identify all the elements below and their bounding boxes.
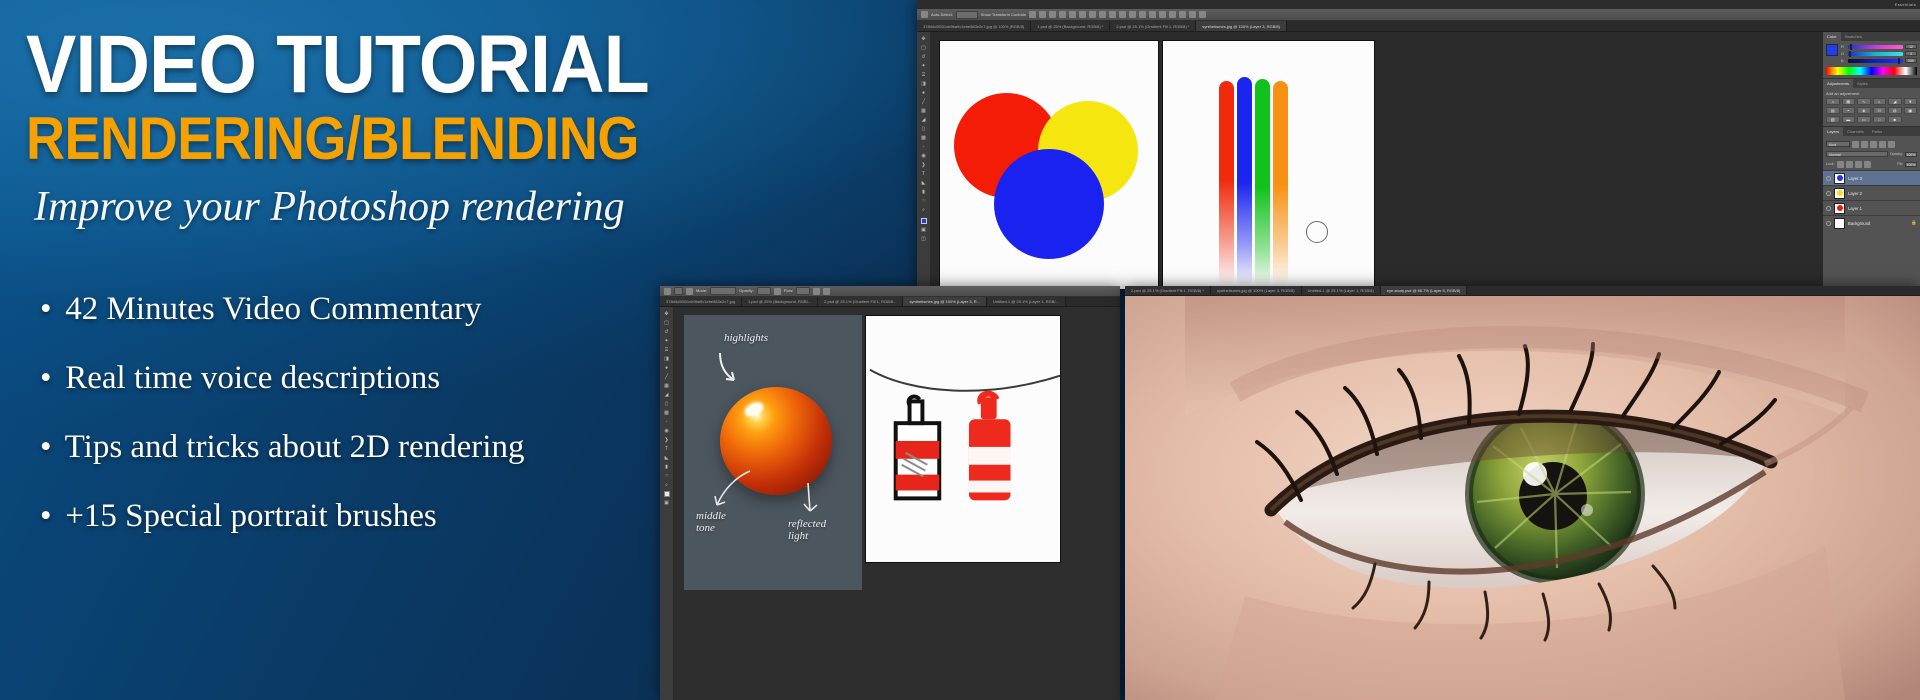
- flow-label: Flow:: [784, 289, 794, 293]
- layer-filter-row[interactable]: Kind: [1826, 140, 1917, 148]
- layer-thumbnail[interactable]: [1834, 188, 1845, 199]
- tagline: Improve your Photoshop rendering: [34, 183, 900, 231]
- tab-color[interactable]: Color: [1823, 32, 1841, 41]
- eyedropper-tool-icon[interactable]: ◨: [662, 355, 671, 363]
- spot-healing-tool-icon[interactable]: ●: [662, 364, 671, 372]
- selective-color-icon[interactable]: ▭: [1857, 116, 1871, 123]
- channel-value-r[interactable]: 12: [1905, 44, 1917, 49]
- page-subtitle: RENDERING/BLENDING: [26, 108, 813, 169]
- document-tab[interactable]: 2.psd @ 25.1% (Gradient Fill 1, RGB/8) *: [1110, 21, 1196, 32]
- tab-paths[interactable]: Paths: [1868, 127, 1886, 136]
- distribute-right-icon[interactable]: [1139, 11, 1146, 18]
- photoshop-window-sphere[interactable]: Mode: Normal Opacity: 100% Flow: 100% 37…: [660, 286, 1120, 700]
- layer-thumbnail[interactable]: [1834, 173, 1845, 184]
- bullet-marker: •: [40, 431, 57, 464]
- tab-styles[interactable]: Styles: [1853, 79, 1872, 88]
- distribute-middle-icon[interactable]: [1099, 11, 1106, 18]
- page-title: VIDEO TUTORIAL: [26, 26, 830, 104]
- blend-mode-select[interactable]: Normal: [1826, 151, 1888, 157]
- hue-saturation-icon[interactable]: ▼: [1904, 98, 1918, 105]
- lasso-tool-icon[interactable]: ↺: [662, 328, 671, 336]
- gradient-tool-icon[interactable]: ▩: [919, 134, 928, 142]
- zoom-tool-icon[interactable]: ⌕: [919, 206, 928, 214]
- type-tool-icon[interactable]: T: [919, 170, 928, 178]
- quick-mask-icon[interactable]: ▣: [919, 226, 928, 234]
- shape-tool-icon[interactable]: ▮: [919, 188, 928, 196]
- spray-can-sketch: [866, 316, 1060, 562]
- document-tab[interactable]: Untitled-1 @ 25.1% (Layer 1, RGB/...: [987, 297, 1066, 307]
- align-right-icon[interactable]: [1049, 11, 1056, 18]
- path-select-tool-icon[interactable]: ◣: [919, 179, 928, 187]
- layer-row-background[interactable]: Background 🔒: [1823, 215, 1920, 230]
- channel-label-g: G: [1841, 51, 1846, 56]
- eye-icon[interactable]: [1826, 176, 1831, 181]
- pen-tool-icon[interactable]: ❯: [919, 161, 928, 169]
- layer-thumbnail[interactable]: [1834, 218, 1845, 229]
- 3d-mode-rotate-icon[interactable]: [1159, 11, 1166, 18]
- list-item-label: Tips and tricks about 2D rendering: [65, 429, 525, 465]
- document-canvas-spraycan-sketch[interactable]: [865, 315, 1061, 563]
- quick-select-tool-icon[interactable]: ✦: [919, 62, 928, 70]
- tablet-pressure-size-icon[interactable]: [813, 288, 820, 295]
- highlights-arrow-icon: [714, 349, 754, 389]
- document-tab[interactable]: 1.psd @ 25% (Background, RGB/...: [742, 297, 818, 307]
- eye-icon[interactable]: [1826, 221, 1831, 226]
- lock-image-pixels-icon[interactable]: [1846, 161, 1853, 168]
- mode-label: Mode:: [696, 289, 707, 293]
- blue-circle[interactable]: [994, 149, 1104, 259]
- photoshop-window-circles[interactable]: Essentials Auto-Select: Group Show Trans…: [917, 0, 1920, 290]
- layer-name[interactable]: Layer 3: [1848, 176, 1917, 181]
- layer-name[interactable]: Layer 2: [1848, 191, 1917, 196]
- adjustments-panel[interactable]: Adjustments Styles Add an adjustment ◑ ▩…: [1823, 79, 1920, 127]
- lasso-tool-icon[interactable]: ↺: [919, 53, 928, 61]
- distribute-top-icon[interactable]: [1089, 11, 1096, 18]
- lock-row[interactable]: Lock: Fill: 100%: [1826, 160, 1917, 168]
- mode-select[interactable]: Normal: [710, 287, 736, 295]
- panels-dock[interactable]: Color Swatches R 12: [1822, 32, 1920, 290]
- shape-tool-icon[interactable]: ▮: [662, 463, 671, 471]
- 3d-mode-scale-icon[interactable]: [1199, 11, 1206, 18]
- layer-row-2[interactable]: Layer 2: [1823, 185, 1920, 200]
- foreground-color-swatch[interactable]: [919, 217, 928, 225]
- document-canvas-circles[interactable]: [939, 40, 1159, 290]
- layer-row-3[interactable]: Layer 3: [1823, 170, 1920, 185]
- crop-tool-icon[interactable]: ⍓: [919, 71, 928, 79]
- filter-shape-icon[interactable]: [1879, 141, 1886, 148]
- tools-panel[interactable]: ✥ ▢ ↺ ✦ ⍓ ◨ ● ╱ ▦ ◢ ▯ ▩ ◦ ◉ ❯ T ◣ ▮ ☜ ⌕: [917, 32, 931, 290]
- color-spectrum-ramp[interactable]: [1826, 67, 1917, 75]
- bullet-marker: •: [40, 500, 57, 533]
- tool-options-bar[interactable]: Mode: Normal Opacity: 100% Flow: 100%: [660, 286, 1120, 297]
- document-tab-bar[interactable]: 2.psd @ 25.1% (Gradient Fill 1, RGB/8) *…: [1125, 286, 1920, 296]
- auto-select-label: Auto-Select:: [931, 13, 953, 17]
- blur-tool-icon[interactable]: ◦: [662, 418, 671, 426]
- 3d-mode-roll-icon[interactable]: [1169, 11, 1176, 18]
- vibrance-icon[interactable]: ◢: [1888, 98, 1902, 105]
- adjustment-buttons[interactable]: ◑ ▩ ∿ ☼ ◢ ▼ ▤ ◓ ◈ ☷ ◍ ▣ ▧: [1826, 98, 1917, 123]
- adjustments-heading: Add an adjustment: [1826, 91, 1917, 96]
- channel-mixer-icon[interactable]: ☷: [1873, 107, 1887, 114]
- color-slider-row[interactable]: G 3: [1841, 51, 1917, 56]
- dodge-tool-icon[interactable]: ◉: [662, 427, 671, 435]
- levels-icon[interactable]: ▩: [1842, 98, 1856, 105]
- threshold-icon[interactable]: ▧: [1826, 116, 1840, 123]
- list-item-label: +15 Special portrait brushes: [65, 498, 436, 534]
- document-canvas-eye[interactable]: [1125, 296, 1920, 700]
- blue-stroke[interactable]: [1237, 77, 1252, 287]
- foreground-background-swatch[interactable]: [1826, 44, 1838, 56]
- move-tool-icon[interactable]: ✥: [662, 310, 671, 318]
- eye-icon[interactable]: [1826, 191, 1831, 196]
- 3d-mode-slide-icon[interactable]: [1189, 11, 1196, 18]
- layer-name[interactable]: Layer 1: [1848, 206, 1917, 211]
- distribute-center-icon[interactable]: [1129, 11, 1136, 18]
- red-stroke[interactable]: [1219, 81, 1234, 286]
- menu-bar[interactable]: Essentials: [917, 0, 1920, 9]
- workspace-switcher-label[interactable]: Essentials: [1895, 2, 1916, 7]
- opacity-value[interactable]: 100%: [1905, 152, 1917, 157]
- history-brush-tool-icon[interactable]: ◢: [919, 116, 928, 124]
- blue-ramp[interactable]: [1848, 59, 1903, 63]
- lock-label: Lock:: [1826, 162, 1835, 166]
- document-tab-bar[interactable]: 378d4c0f531cb9ba9c1ebe583e2c7.jpg @ 100%…: [917, 21, 1920, 32]
- layers-panel-tabs[interactable]: Layers Channels Paths: [1823, 127, 1920, 136]
- document-tab-active[interactable]: synthetismes.jpg @ 100% (Layer 3, R...: [903, 297, 987, 307]
- gradient-tool-icon[interactable]: ▩: [662, 409, 671, 417]
- color-panel-tabs[interactable]: Color Swatches: [1823, 32, 1920, 41]
- promo-banner: VIDEO TUTORIAL RENDERING/BLENDING Improv…: [0, 0, 1920, 700]
- document-tab[interactable]: 1.psd @ 25% (Background, RGB/8) *: [1031, 21, 1110, 32]
- 3d-mode-pan-icon[interactable]: [1179, 11, 1186, 18]
- brush-tool-icon[interactable]: ╱: [919, 98, 928, 106]
- more-adjustments-icon[interactable]: ■: [1888, 116, 1902, 123]
- blur-tool-icon[interactable]: ◦: [919, 143, 928, 151]
- brightness-contrast-icon[interactable]: ◑: [1826, 98, 1840, 105]
- bullet-marker: •: [40, 293, 57, 326]
- show-transform-controls-label: Show Transform Controls: [981, 13, 1026, 17]
- lock-transparent-pixels-icon[interactable]: [1837, 161, 1844, 168]
- canvas-area[interactable]: highlights middle tone reflected light: [674, 307, 1120, 700]
- zoom-tool-icon[interactable]: ⌕: [662, 481, 671, 489]
- adjustments-panel-tabs[interactable]: Adjustments Styles: [1823, 79, 1920, 88]
- quick-select-tool-icon[interactable]: ✦: [662, 337, 671, 345]
- distribute-left-icon[interactable]: [1119, 11, 1126, 18]
- orange-stroke[interactable]: [1273, 81, 1288, 286]
- layers-panel[interactable]: Layers Channels Paths Kind: [1823, 127, 1920, 290]
- document-tab[interactable]: 378d4c0f531cb9ba9c1ebe583e2c7.jpg: [660, 297, 742, 307]
- gradient-map-icon[interactable]: ▬: [1842, 116, 1856, 123]
- screen-mode-icon[interactable]: ◫: [919, 235, 928, 243]
- document-tab-active[interactable]: synthetismes.jpg @ 100% (Layer 3, RGB/8): [1196, 21, 1287, 32]
- green-stroke[interactable]: [1255, 79, 1270, 287]
- flow-field[interactable]: 100%: [796, 287, 810, 295]
- lock-position-icon[interactable]: [1855, 161, 1862, 168]
- color-slider-row[interactable]: B 239: [1841, 58, 1917, 63]
- channel-value-b[interactable]: 239: [1905, 58, 1917, 63]
- photoshop-window-eye[interactable]: 2.psd @ 25.1% (Gradient Fill 1, RGB/8) *…: [1125, 286, 1920, 700]
- rendered-sphere[interactable]: [720, 387, 832, 495]
- curves-icon[interactable]: ∿: [1857, 98, 1871, 105]
- eye-icon[interactable]: [1826, 206, 1831, 211]
- color-balance-icon[interactable]: ▤: [1826, 107, 1840, 114]
- layer-name[interactable]: Background: [1848, 221, 1908, 226]
- color-slider-row[interactable]: R 12: [1841, 44, 1917, 49]
- list-item-label: 42 Minutes Video Commentary: [65, 291, 481, 327]
- red-ramp[interactable]: [1848, 45, 1903, 49]
- filter-type-icon[interactable]: [1870, 141, 1877, 148]
- auto-select-dropdown[interactable]: Group: [956, 11, 978, 19]
- auto-align-icon[interactable]: [1149, 11, 1156, 18]
- pen-tool-icon[interactable]: ❯: [662, 436, 671, 444]
- document-canvas-strokes[interactable]: [1162, 40, 1375, 290]
- green-ramp[interactable]: [1848, 52, 1903, 56]
- document-tab[interactable]: Untitled-1 @ 25.1% (Layer 1, RGB/8): [1302, 286, 1381, 296]
- move-tool-icon[interactable]: [921, 11, 928, 18]
- tab-layers[interactable]: Layers: [1823, 127, 1843, 136]
- tablet-pressure-opacity-icon[interactable]: [823, 288, 830, 295]
- stamp-tool-icon[interactable]: ▦: [919, 107, 928, 115]
- align-top-icon[interactable]: [1059, 11, 1066, 18]
- lock-all-icon[interactable]: [1864, 161, 1871, 168]
- invert-icon[interactable]: ◍: [1888, 107, 1902, 114]
- align-middle-v-icon[interactable]: [1069, 11, 1076, 18]
- photo-filter-icon[interactable]: ◈: [1857, 107, 1871, 114]
- eraser-tool-icon[interactable]: ▯: [662, 400, 671, 408]
- document-tab[interactable]: 378d4c0f531cb9ba9c1ebe583e2c7.jpg @ 100%…: [917, 21, 1031, 32]
- hand-tool-icon[interactable]: ☜: [662, 472, 671, 480]
- align-bottom-icon[interactable]: [1079, 11, 1086, 18]
- move-tool-icon[interactable]: ✥: [919, 35, 928, 43]
- history-brush-tool-icon[interactable]: ◢: [662, 391, 671, 399]
- document-tab[interactable]: 2.psd @ 25.1% (Gradient Fill 1, RGB/8) *: [1125, 286, 1211, 296]
- black-white-icon[interactable]: ◓: [1842, 107, 1856, 114]
- filter-pixel-icon[interactable]: [1852, 141, 1859, 148]
- tab-swatches[interactable]: Swatches: [1841, 32, 1866, 41]
- highlights-label: highlights: [724, 333, 768, 345]
- canvas-area[interactable]: [931, 32, 1822, 290]
- fill-label: Fill:: [1897, 162, 1903, 166]
- filter-smart-icon[interactable]: [1888, 141, 1895, 148]
- distribute-bottom-icon[interactable]: [1109, 11, 1116, 18]
- document-tab-active[interactable]: eye-study.psd @ 66.7% (Layer 5, RGB/8): [1381, 286, 1468, 296]
- posterize-icon[interactable]: ▣: [1904, 107, 1918, 114]
- channel-label-r: R: [1841, 44, 1846, 49]
- tools-panel[interactable]: ✥ ▢ ↺ ✦ ⍓ ◨ ● ╱ ▦ ◢ ▯ ▩ ◦ ◉ ❯ T ◣ ▮ ☜ ⌕: [660, 307, 674, 700]
- tool-options-bar[interactable]: Auto-Select: Group Show Transform Contro…: [917, 9, 1920, 21]
- hand-tool-icon[interactable]: ☜: [919, 197, 928, 205]
- document-tab[interactable]: 2.psd @ 25.1% (Gradient Fill 1, RGB/8...: [818, 297, 903, 307]
- brush-tool-icon[interactable]: [664, 288, 671, 295]
- type-tool-icon[interactable]: T: [662, 445, 671, 453]
- opacity-label: Opacity:: [1890, 152, 1903, 156]
- crop-tool-icon[interactable]: ⍓: [662, 346, 671, 354]
- filter-adjustment-icon[interactable]: [1861, 141, 1868, 148]
- middle-tone-label: middle tone: [696, 511, 726, 534]
- lock-icon: 🔒: [1911, 220, 1917, 226]
- exposure-icon[interactable]: ☼: [1873, 98, 1887, 105]
- color-panel[interactable]: Color Swatches R 12: [1823, 32, 1920, 79]
- channel-value-g[interactable]: 3: [1905, 51, 1917, 56]
- brush-cursor-circle: [1306, 221, 1328, 243]
- stamp-tool-icon[interactable]: ▦: [662, 382, 671, 390]
- airbrush-icon[interactable]: [774, 288, 781, 295]
- eyedropper-tool-icon[interactable]: ◨: [919, 80, 928, 88]
- document-canvas-sphere-study[interactable]: highlights middle tone reflected light: [684, 315, 862, 590]
- brush-panel-toggle-icon[interactable]: [686, 288, 693, 295]
- reflected-light-label: reflected light: [788, 519, 826, 542]
- tab-channels[interactable]: Channels: [1843, 127, 1868, 136]
- opacity-field[interactable]: 100%: [757, 287, 771, 295]
- blend-mode-row[interactable]: Normal Opacity: 100%: [1826, 150, 1917, 158]
- layer-thumbnail[interactable]: [1834, 203, 1845, 214]
- brush-preset-picker[interactable]: [674, 287, 683, 295]
- fill-value[interactable]: 100%: [1905, 162, 1917, 167]
- align-center-h-icon[interactable]: [1039, 11, 1046, 18]
- layer-row-1[interactable]: Layer 1: [1823, 200, 1920, 215]
- brush-tool-icon[interactable]: ╱: [662, 373, 671, 381]
- document-tab[interactable]: synthetismes.jpg @ 100% (Layer 3, RGB/8): [1211, 286, 1302, 296]
- bullet-marker: •: [40, 362, 57, 395]
- quick-mask-icon[interactable]: ▣: [662, 499, 671, 507]
- path-select-tool-icon[interactable]: ◣: [662, 454, 671, 462]
- opacity-label: Opacity:: [739, 289, 754, 293]
- list-item-label: Real time voice descriptions: [65, 360, 440, 396]
- painted-eye-closeup: [1125, 296, 1920, 700]
- dodge-tool-icon[interactable]: ◉: [919, 152, 928, 160]
- align-left-icon[interactable]: [1029, 11, 1036, 18]
- document-tab-bar[interactable]: 378d4c0f531cb9ba9c1ebe583e2c7.jpg 1.psd …: [660, 297, 1120, 307]
- tab-adjustments[interactable]: Adjustments: [1823, 79, 1853, 88]
- filter-kind-select[interactable]: Kind: [1826, 141, 1850, 147]
- rectangular-select-tool-icon[interactable]: ▢: [919, 44, 928, 52]
- eraser-tool-icon[interactable]: ▯: [919, 125, 928, 133]
- foreground-color-swatch[interactable]: [662, 490, 671, 498]
- channel-label-b: B: [1841, 58, 1846, 63]
- lookup-icon[interactable]: □: [1873, 116, 1887, 123]
- spot-healing-tool-icon[interactable]: ●: [919, 89, 928, 97]
- rectangular-select-tool-icon[interactable]: ▢: [662, 319, 671, 327]
